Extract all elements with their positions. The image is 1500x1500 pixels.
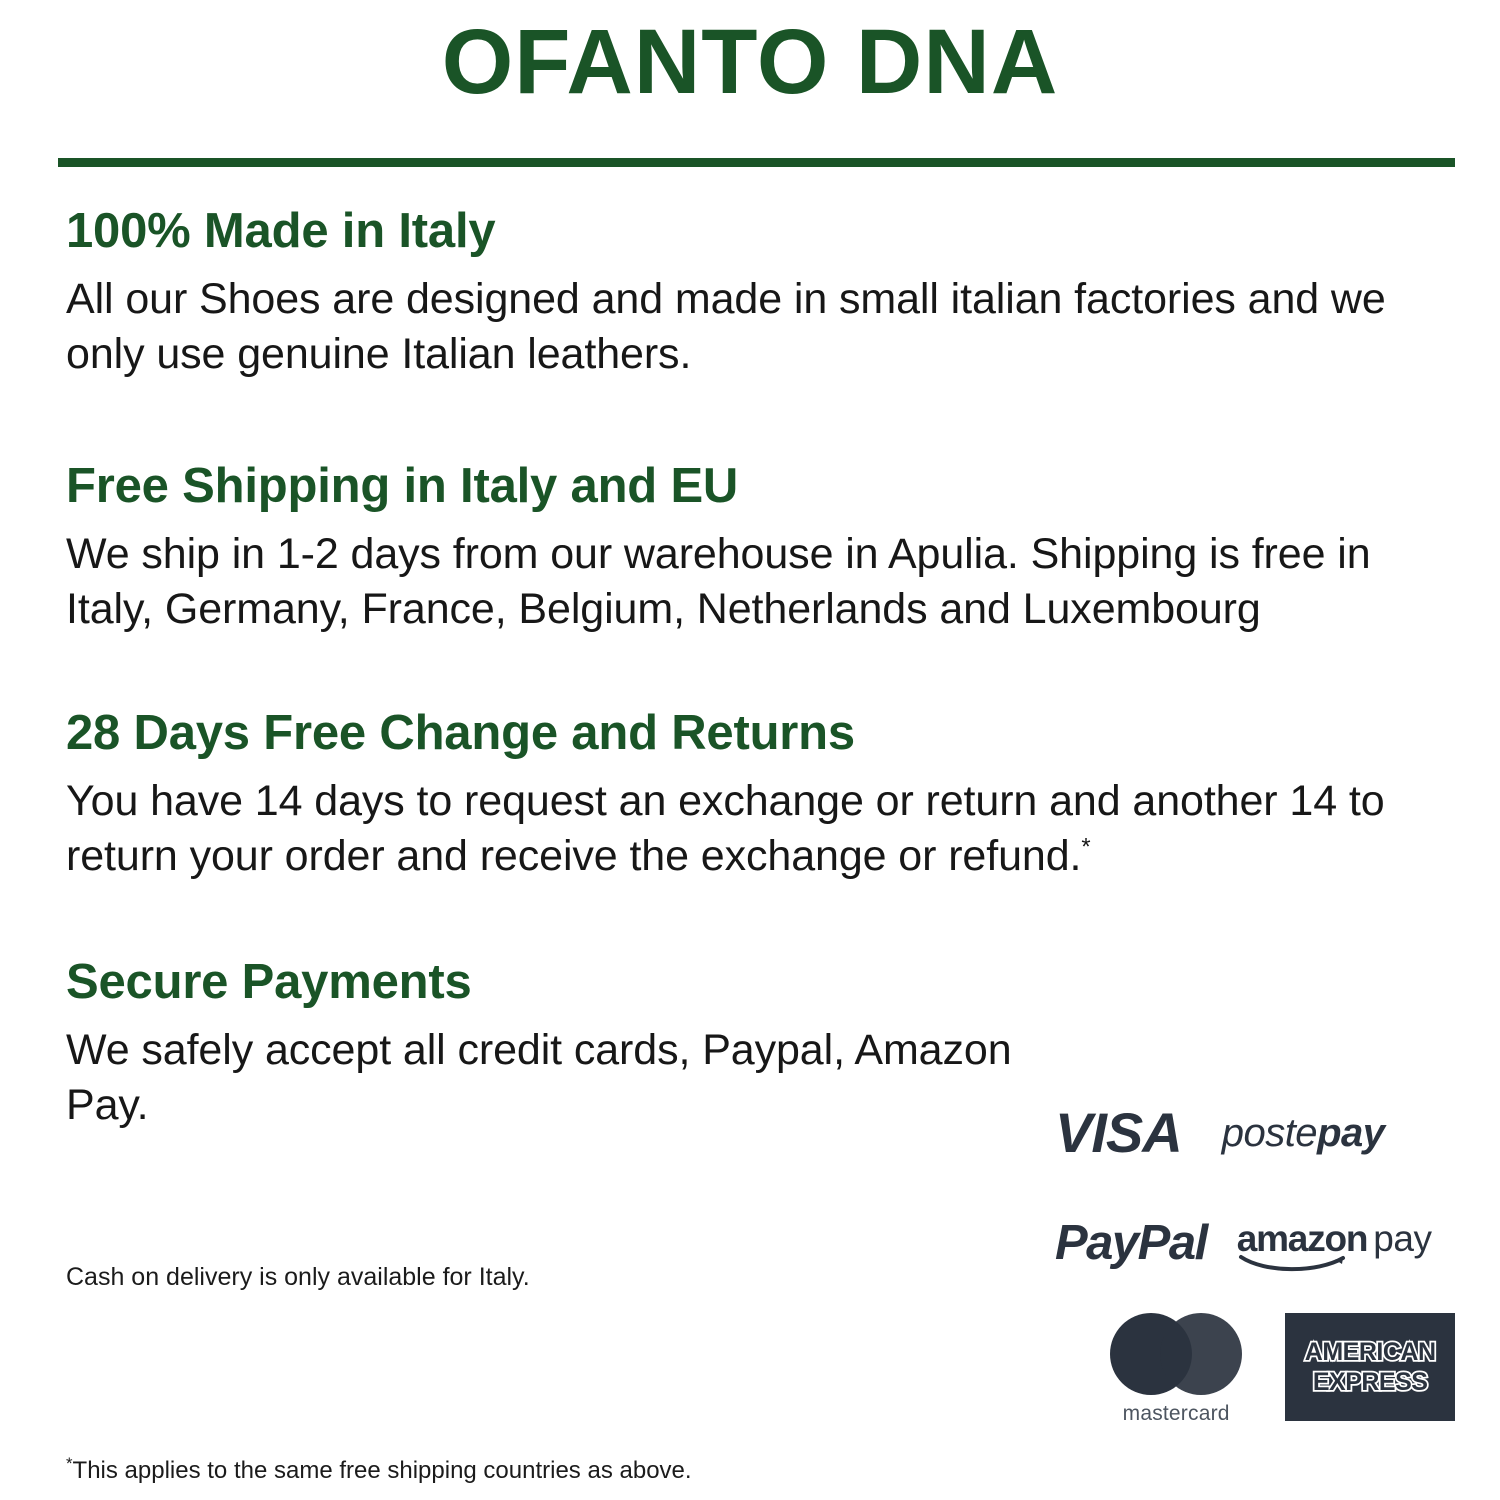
returns-footnote-marker: * [1081, 835, 1090, 861]
american-express-icon-line1: AMERICAN [1305, 1340, 1436, 1365]
section-body-secure-payments: We safely accept all credit cards, Paypa… [66, 1023, 1016, 1133]
payment-logo-row-1: VISA postepay [1055, 1085, 1455, 1181]
spacer-1 [66, 382, 1446, 460]
cash-on-delivery-note: Cash on delivery is only available for I… [66, 1261, 1016, 1294]
postepay-icon-suffix: pay [1317, 1111, 1384, 1155]
section-body-made-in-italy: All our Shoes are designed and made in s… [66, 272, 1446, 382]
amazon-pay-icon-suffix: pay [1373, 1218, 1431, 1259]
payment-logos: VISA postepay PayPal amazonpay mastercar… [1055, 1085, 1455, 1409]
section-heading-free-shipping: Free Shipping in Italy and EU [66, 460, 1446, 513]
section-returns: 28 Days Free Change and Returns You have… [66, 707, 1446, 884]
title-divider [58, 158, 1455, 167]
mastercard-icon-label: mastercard [1123, 1402, 1230, 1426]
section-heading-made-in-italy: 100% Made in Italy [66, 205, 1446, 258]
payment-logo-row-3: mastercard AMERICAN EXPRESS [1055, 1313, 1455, 1409]
section-body-returns: You have 14 days to request an exchange … [66, 774, 1446, 884]
visa-icon: VISA [1055, 1105, 1182, 1161]
spacer-2 [66, 637, 1446, 707]
footnote-text: This applies to the same free shipping c… [73, 1457, 692, 1484]
spacer-3 [66, 884, 1446, 956]
section-heading-returns: 28 Days Free Change and Returns [66, 707, 1446, 760]
mastercard-circles-icon [1110, 1313, 1242, 1395]
section-body-returns-text: You have 14 days to request an exchange … [66, 777, 1385, 880]
american-express-icon-line2: EXPRESS [1313, 1370, 1428, 1395]
mastercard-icon: mastercard [1103, 1313, 1249, 1426]
section-heading-secure-payments: Secure Payments [66, 956, 1016, 1009]
page-title: OFANTO DNA [0, 16, 1500, 108]
section-body-free-shipping: We ship in 1-2 days from our warehouse i… [66, 527, 1446, 637]
mastercard-circle-right [1160, 1313, 1242, 1395]
american-express-icon: AMERICAN EXPRESS [1285, 1313, 1455, 1421]
ofanto-dna-infographic: OFANTO DNA 100% Made in Italy All our Sh… [0, 0, 1500, 1500]
amazon-smile-arrow-icon [1239, 1251, 1355, 1271]
paypal-icon: PayPal [1055, 1219, 1207, 1268]
payment-logo-row-2: PayPal amazonpay [1055, 1195, 1455, 1291]
postepay-icon-prefix: poste [1222, 1111, 1317, 1155]
postepay-icon: postepay [1222, 1113, 1385, 1153]
section-made-in-italy: 100% Made in Italy All our Shoes are des… [66, 205, 1446, 382]
amazon-pay-icon: amazonpay [1237, 1220, 1432, 1267]
secure-payments-text-block: Secure Payments We safely accept all cre… [66, 956, 1016, 1293]
section-free-shipping: Free Shipping in Italy and EU We ship in… [66, 460, 1446, 637]
footnote: *This applies to the same free shipping … [66, 1455, 692, 1486]
